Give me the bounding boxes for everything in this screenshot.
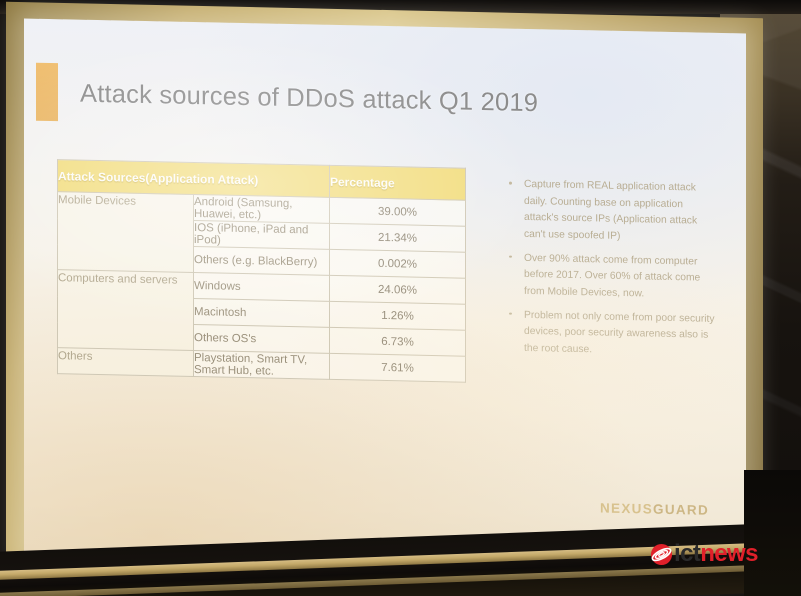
- group-label-others: Others: [58, 348, 194, 377]
- bullet-list: Capture from REAL application attack dai…: [503, 176, 717, 368]
- watermark-text-news: news: [700, 540, 758, 568]
- bullet-text: Over 90% attack come from computer befor…: [524, 253, 700, 300]
- slide-content: Attack sources of DDoS attack Q1 2019 At…: [24, 18, 746, 571]
- bullet-item: Over 90% attack come from computer befor…: [503, 250, 717, 304]
- nexusguard-logo-part2: GUARD: [653, 502, 709, 518]
- nexusguard-logo: NEXUSGUARD: [600, 501, 709, 518]
- row-percentage: 1.26%: [330, 301, 466, 330]
- bullet-text: Capture from REAL application attack dai…: [524, 179, 697, 242]
- bullet-dot-icon: [509, 182, 512, 185]
- bullet-item: Problem not only come from poor security…: [503, 307, 717, 361]
- globe-icon: [650, 543, 673, 566]
- bullet-dot-icon: [509, 312, 512, 315]
- row-percentage: 21.34%: [330, 223, 466, 252]
- ictnews-watermark: ictnews: [650, 540, 758, 568]
- row-item: Playstation, Smart TV, Smart Hub, etc.: [194, 350, 330, 379]
- row-item: IOS (iPhone, iPad and iPod): [194, 220, 330, 249]
- bullet-text: Problem not only come from poor security…: [524, 310, 715, 356]
- row-item: Others (e.g. BlackBerry): [194, 246, 330, 275]
- watermark-text-ict: ict: [674, 540, 700, 568]
- row-item: Others OS's: [194, 324, 330, 353]
- attack-sources-table: Attack Sources(Application Attack) Perce…: [57, 159, 466, 383]
- bullet-dot-icon: [509, 255, 512, 258]
- row-percentage: 39.00%: [330, 197, 466, 226]
- nexusguard-logo-part1: NEXUS: [600, 501, 653, 517]
- row-item: Macintosh: [194, 298, 330, 327]
- row-percentage: 0.002%: [330, 249, 466, 278]
- row-percentage: 7.61%: [330, 353, 466, 382]
- row-percentage: 6.73%: [330, 327, 466, 356]
- group-label-computers-and-servers: Computers and servers: [58, 270, 194, 351]
- title-accent-bar: [36, 63, 58, 121]
- group-label-mobile-devices: Mobile Devices: [58, 192, 194, 273]
- bullet-item: Capture from REAL application attack dai…: [503, 176, 717, 247]
- row-item: Windows: [194, 272, 330, 301]
- slide-title: Attack sources of DDoS attack Q1 2019: [80, 80, 680, 122]
- column-header-percentage: Percentage: [330, 165, 466, 200]
- photo-scene: Attack sources of DDoS attack Q1 2019 At…: [0, 0, 801, 596]
- projected-slide: Attack sources of DDoS attack Q1 2019 At…: [24, 18, 746, 571]
- row-item: Android (Samsung, Huawei, etc.): [194, 194, 330, 223]
- row-percentage: 24.06%: [330, 275, 466, 304]
- foreground-shadow-right: [744, 470, 801, 596]
